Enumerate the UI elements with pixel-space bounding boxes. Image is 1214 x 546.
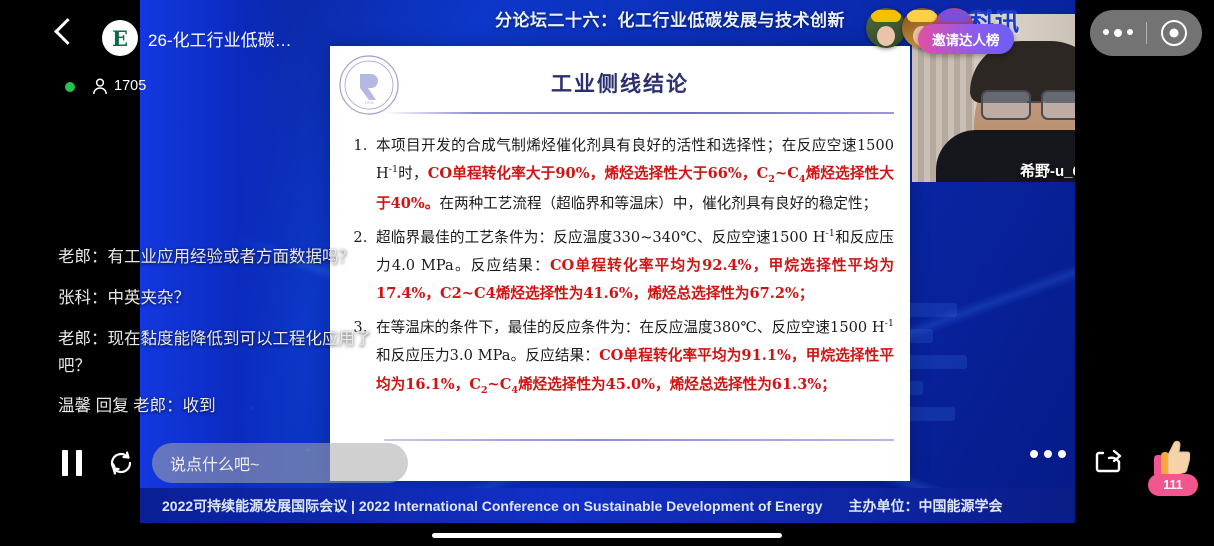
conference-banner: 2022可持续能源发展国际会议 | 2022 International Con… [140,488,1075,523]
banner-text-left: 2022可持续能源发展国际会议 | 2022 International Con… [162,496,823,516]
more-options-icon[interactable] [1030,450,1066,458]
host-avatar[interactable]: E [102,20,138,56]
slide-bullet-item: 本项目开发的合成气制烯烃催化剂具有良好的活性和选择性；在反应空速1500 H-1… [372,132,894,218]
slide-title: 工业侧线结论 [330,68,910,98]
chat-overlay[interactable]: 老郎：有工业应用经验或者方面数据吗？ 张科：中英夹杂？ 老郎：现在黏度能降低到可… [58,244,388,434]
comment-input[interactable]: 说点什么吧~ [152,443,408,483]
invite-rank-pill[interactable]: 邀请达人榜 [918,24,1014,54]
chat-message: 温馨 回复 老郎：收到 [58,393,388,420]
svg-text:1978: 1978 [365,100,375,105]
comment-placeholder: 说点什么吧~ [170,451,259,475]
slide-bullet-item: 在等温床的条件下，最佳的反应条件为：在反应温度380℃、反应空速1500 H-1… [372,314,894,400]
live-status-dot [65,82,75,92]
home-indicator [432,533,782,538]
like-count-badge: 111 [1148,474,1198,496]
people-icon [92,78,108,95]
chat-message: 张科：中英夹杂？ [58,285,388,312]
speaker-glasses [981,90,1075,116]
host-avatar-letter: E [112,26,128,51]
more-dots-icon[interactable] [1090,29,1146,37]
slide-bullet-item: 超临界最佳的工艺条件为：反应温度330~340℃、反应空速1500 H-1和反应… [372,224,894,308]
slide-bottom-rule [384,439,894,441]
rank-avatar-1[interactable] [866,8,906,48]
room-title: 26-化工行业低碳… [148,26,292,51]
chat-message: 老郎：有工业应用经验或者方面数据吗？ [58,244,388,271]
viewer-count: 1705 [114,78,146,94]
live-stream-screen: 分论坛二十六：化工行业低碳发展与技术创新 1978 工业侧线结论 本项目开发的合… [0,0,1214,546]
share-icon[interactable] [1092,446,1124,478]
speaker-name-label: 希野-u_6301f92e2dc46_fU019N5G4y [1020,160,1075,181]
slide-bullet-list: 本项目开发的合成气制烯烃催化剂具有良好的活性和选择性；在反应空速1500 H-1… [330,132,910,406]
chat-message: 老郎：现在黏度能降低到可以工程化应用了吧？ [58,326,388,379]
pause-icon[interactable] [62,450,82,476]
like-button[interactable]: 111 [1148,440,1198,496]
target-circle-icon[interactable] [1147,20,1203,46]
banner-text-right: 主办单位：中国能源学会 [849,496,1003,516]
wechat-capsule[interactable] [1090,10,1202,56]
refresh-icon[interactable] [108,450,134,476]
slide-title-rule [384,112,894,114]
presentation-slide[interactable]: 1978 工业侧线结论 本项目开发的合成气制烯烃催化剂具有良好的活性和选择性；在… [330,46,910,481]
